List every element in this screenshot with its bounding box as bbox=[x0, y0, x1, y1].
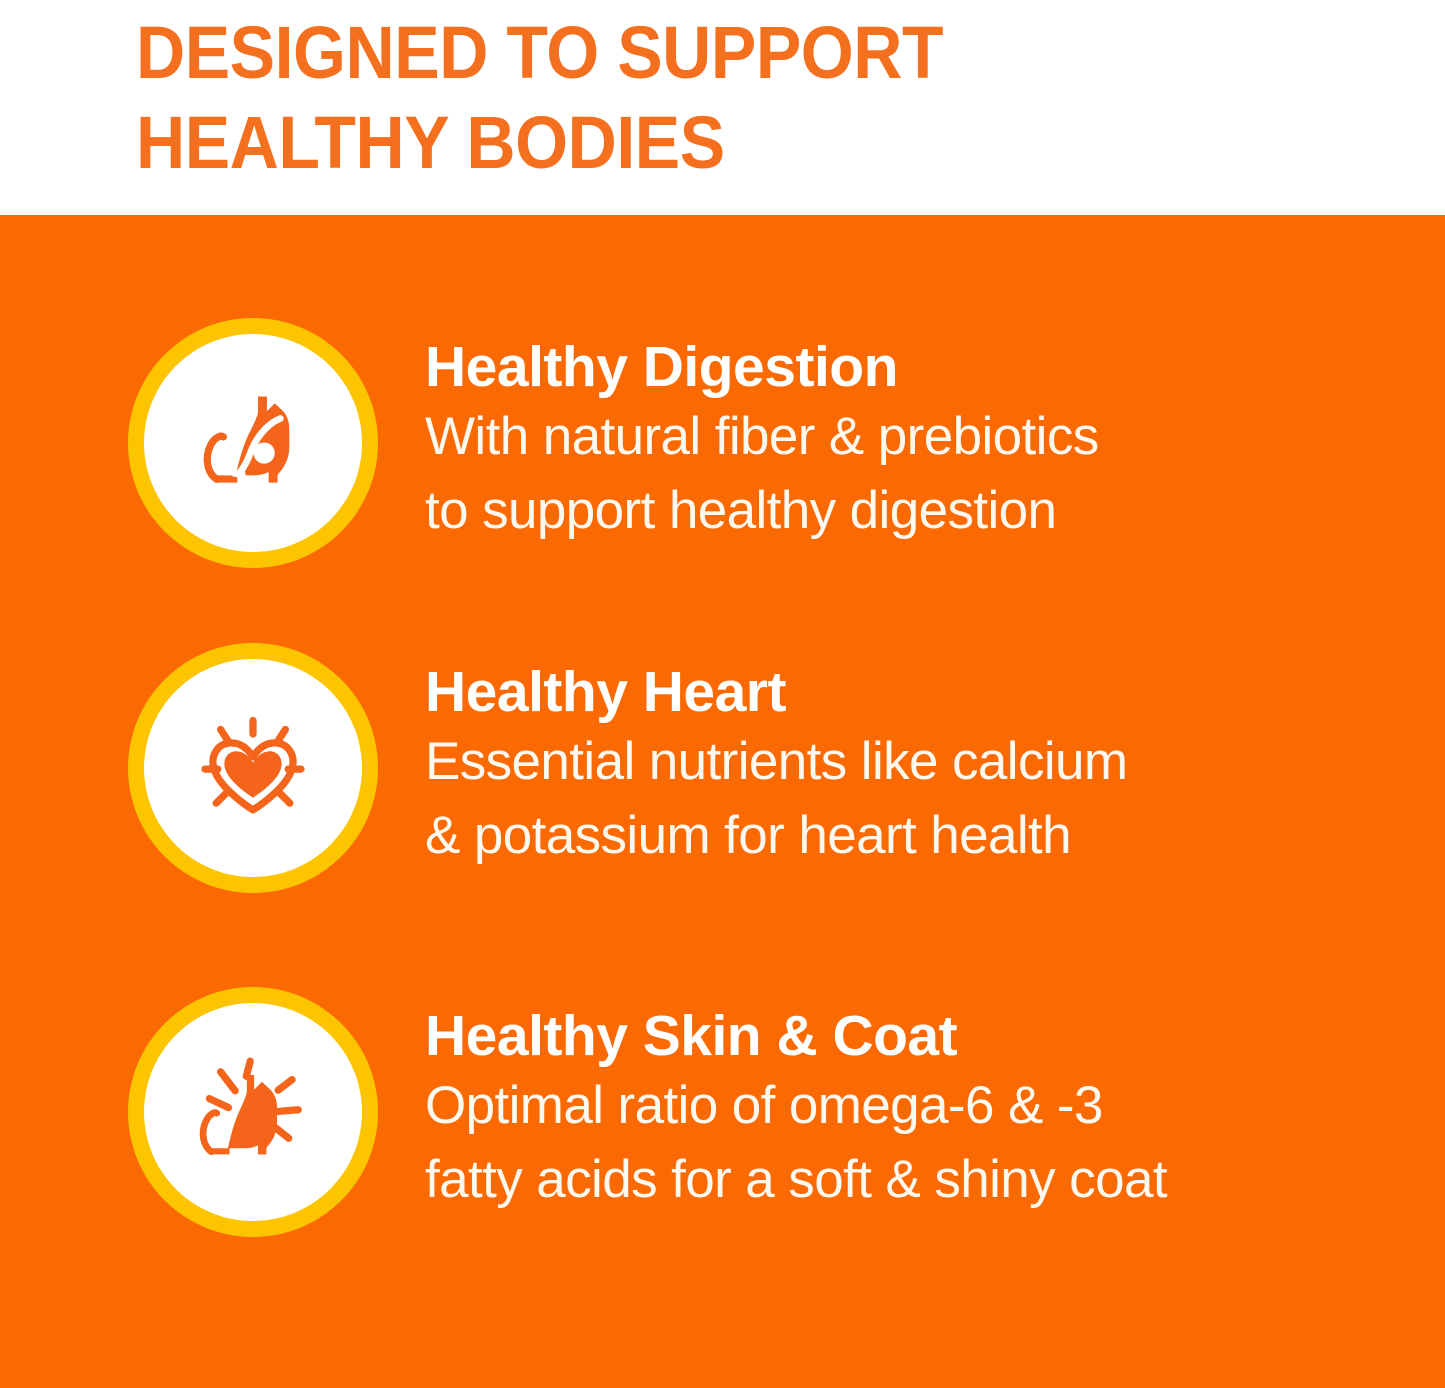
benefit-list: Healthy Digestion With natural fiber & p… bbox=[0, 215, 1445, 1388]
benefit-text: Healthy Skin & Coat Optimal ratio of ome… bbox=[378, 987, 1378, 1217]
icon-disc bbox=[144, 334, 362, 552]
icon-badge bbox=[128, 987, 378, 1237]
cat-digestion-icon bbox=[186, 376, 320, 510]
page-title: DESIGNED TO SUPPORT HEALTHY BODIES bbox=[136, 8, 1340, 188]
icon-badge bbox=[128, 318, 378, 568]
list-item: Healthy Skin & Coat Optimal ratio of ome… bbox=[128, 987, 1378, 1237]
list-item: Healthy Digestion With natural fiber & p… bbox=[128, 318, 1378, 568]
benefit-title: Healthy Skin & Coat bbox=[425, 1003, 1378, 1069]
benefit-description: Essential nutrients like calcium & potas… bbox=[425, 725, 1378, 873]
icon-disc bbox=[144, 659, 362, 877]
benefits-infographic: DESIGNED TO SUPPORT HEALTHY BODIES bbox=[0, 0, 1445, 1388]
icon-badge bbox=[128, 643, 378, 893]
benefit-description: Optimal ratio of omega-6 & -3 fatty acid… bbox=[425, 1069, 1378, 1217]
icon-disc bbox=[144, 1003, 362, 1221]
benefit-title: Healthy Heart bbox=[425, 659, 1378, 725]
header-band: DESIGNED TO SUPPORT HEALTHY BODIES bbox=[0, 0, 1445, 215]
benefit-text: Healthy Digestion With natural fiber & p… bbox=[378, 318, 1378, 548]
benefit-text: Healthy Heart Essential nutrients like c… bbox=[378, 643, 1378, 873]
benefit-title: Healthy Digestion bbox=[425, 334, 1378, 400]
benefits-panel: Healthy Digestion With natural fiber & p… bbox=[0, 215, 1445, 1388]
list-item: Healthy Heart Essential nutrients like c… bbox=[128, 643, 1378, 893]
benefit-description: With natural fiber & prebiotics to suppo… bbox=[425, 400, 1378, 548]
radiant-heart-icon bbox=[186, 701, 320, 835]
cat-shine-icon bbox=[186, 1045, 320, 1179]
